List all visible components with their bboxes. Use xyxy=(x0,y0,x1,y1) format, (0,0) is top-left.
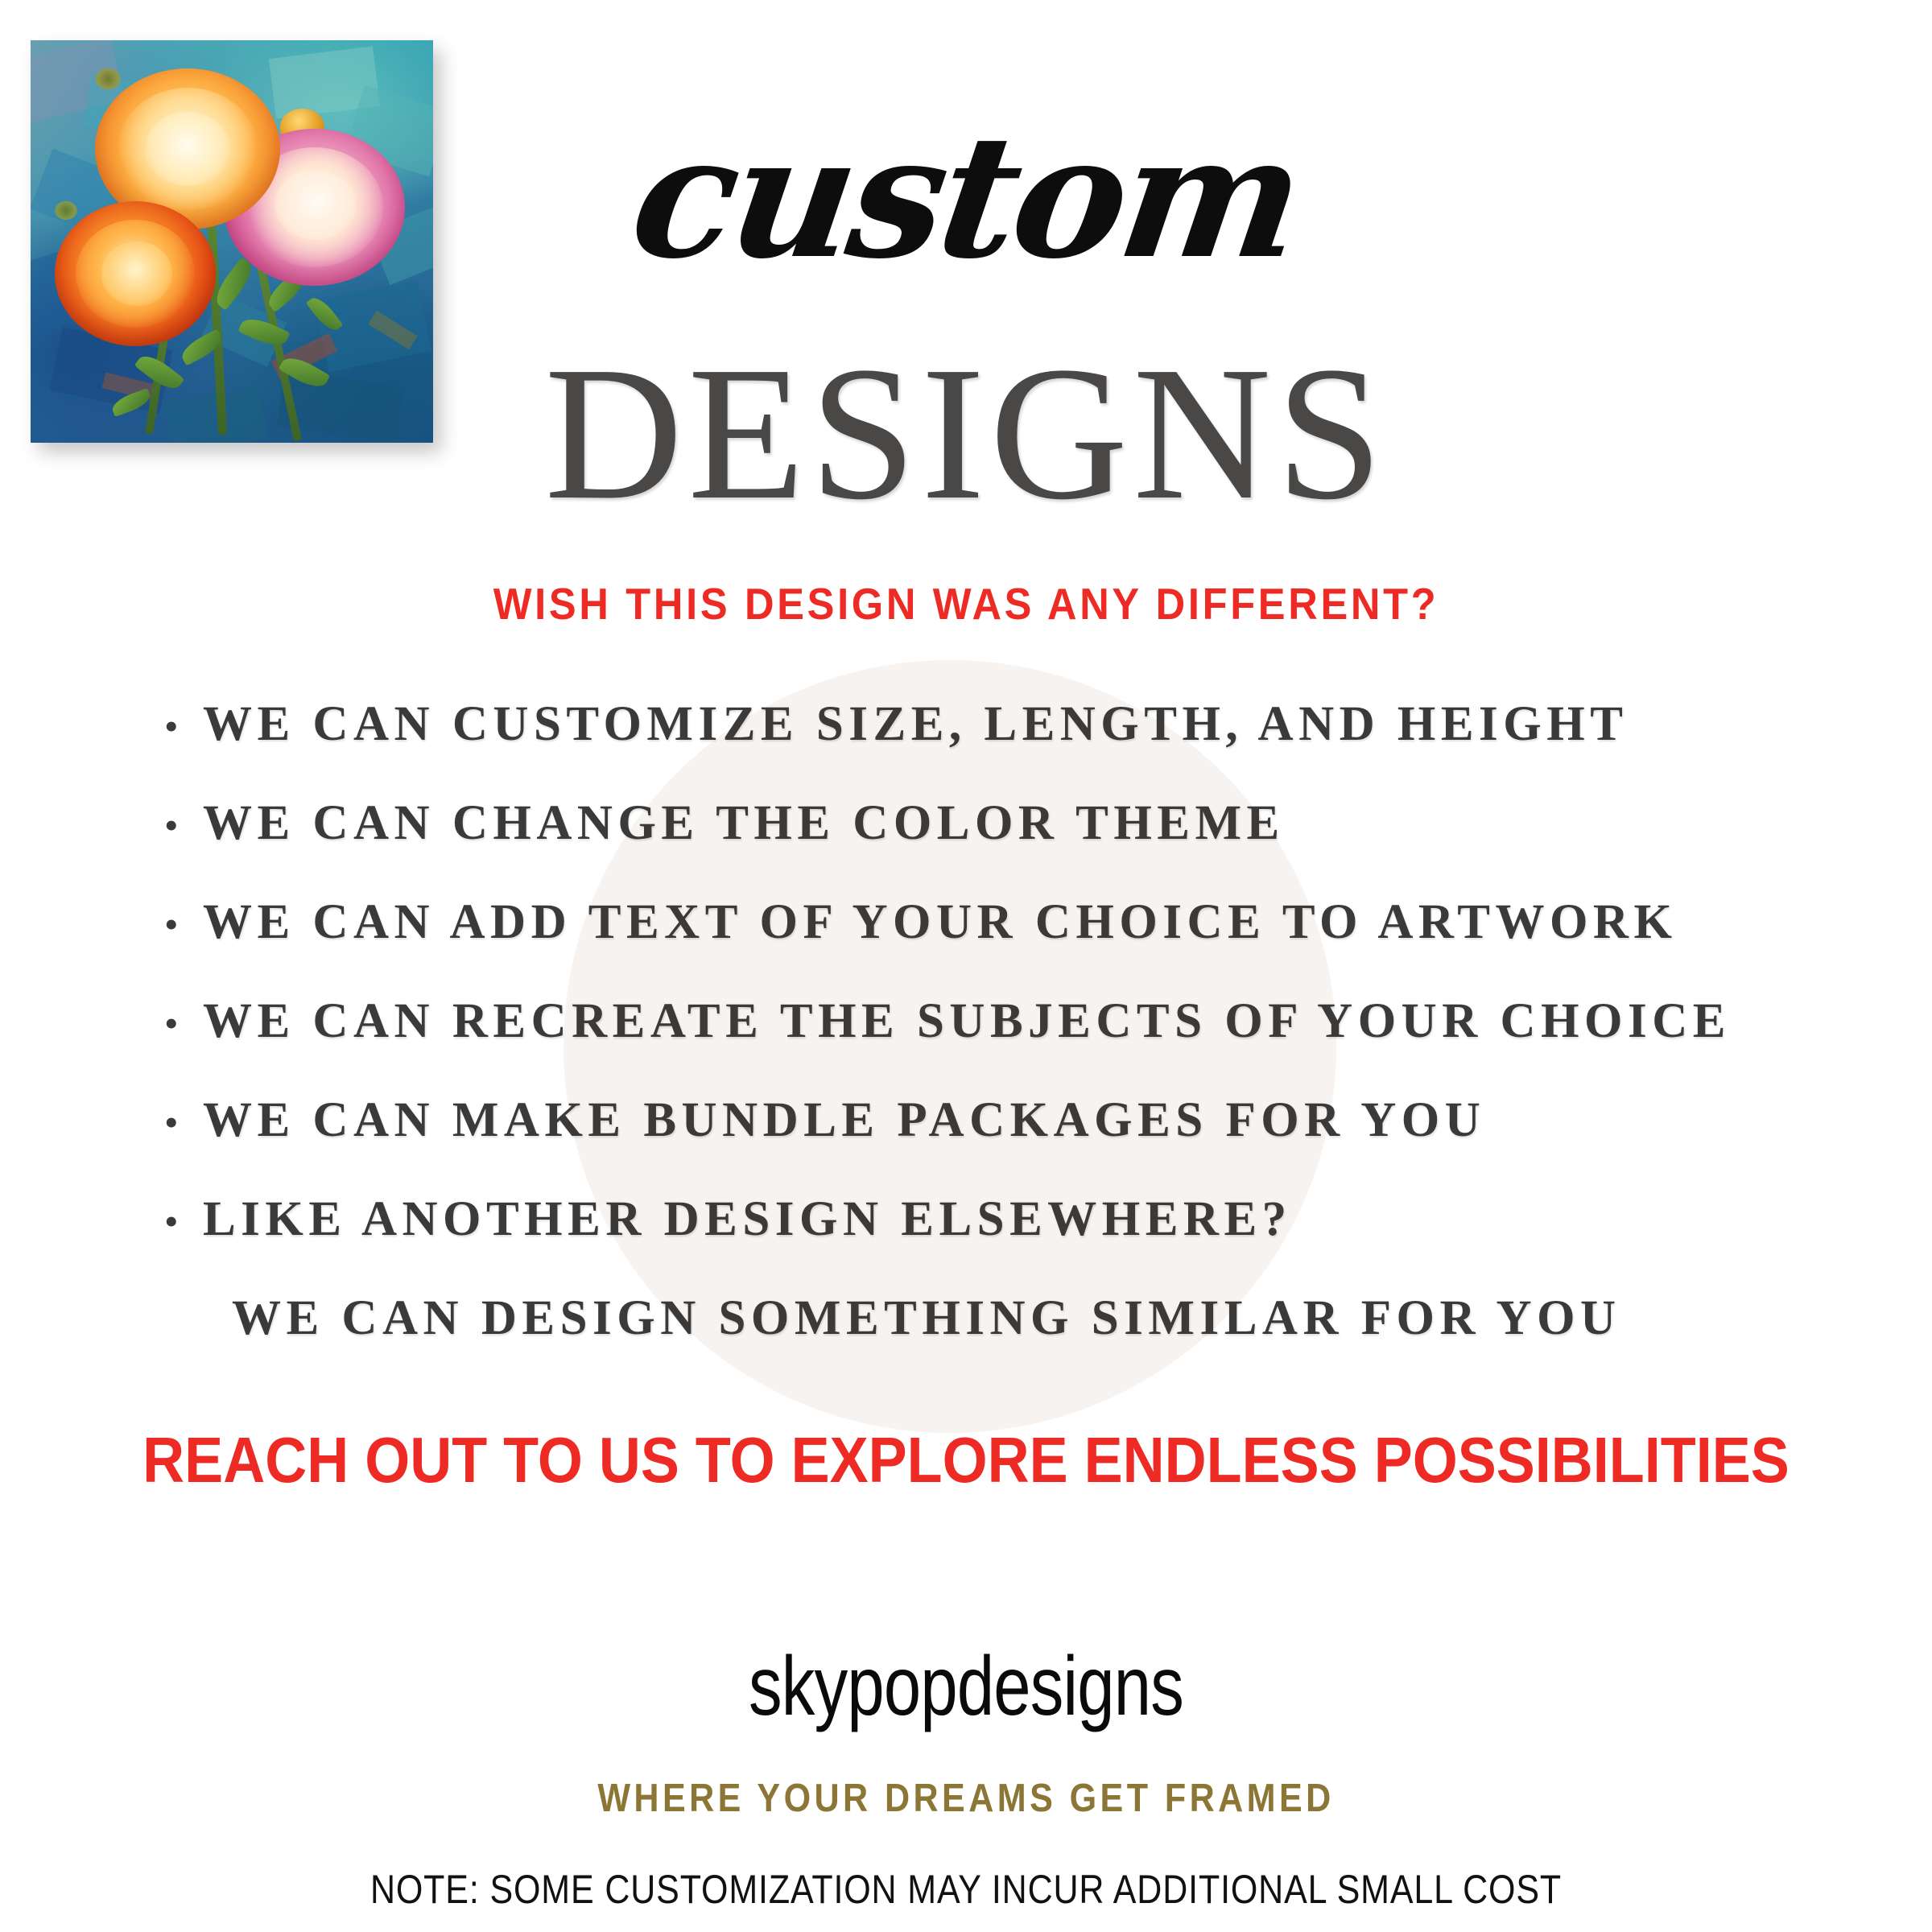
subtitle-question: WISH THIS DESIGN WAS ANY DIFFERENT? xyxy=(77,578,1855,630)
brand-logo-text: skypopdesigns xyxy=(193,1639,1739,1735)
list-item-label: WE CAN DESIGN SOMETHING SIMILAR FOR YOU xyxy=(203,1290,1621,1347)
bullet-dot-icon: • xyxy=(153,1003,203,1043)
list-item-continuation: WE CAN DESIGN SOMETHING SIMILAR FOR YOU xyxy=(153,1290,1827,1389)
bullet-dot-icon: • xyxy=(153,1201,203,1241)
brand-tagline: WHERE YOUR DREAMS GET FRAMED xyxy=(116,1776,1816,1821)
list-item: • WE CAN MAKE BUNDLE PACKAGES FOR YOU xyxy=(153,1092,1827,1191)
bullet-dot-icon: • xyxy=(153,1102,203,1142)
script-headline-custom: custom xyxy=(0,113,1932,282)
list-item-label: WE CAN RECREATE THE SUBJECTS OF YOUR CHO… xyxy=(203,993,1731,1050)
bullet-dot-icon: • xyxy=(153,706,203,746)
list-item-label: LIKE ANOTHER DESIGN ELSEWHERE? xyxy=(203,1191,1292,1248)
list-item-label: WE CAN MAKE BUNDLE PACKAGES FOR YOU xyxy=(203,1092,1485,1149)
list-item: • WE CAN CHANGE THE COLOR THEME xyxy=(153,795,1827,894)
customization-options-list: • WE CAN CUSTOMIZE SIZE, LENGTH, AND HEI… xyxy=(153,696,1827,1389)
list-item: • WE CAN CUSTOMIZE SIZE, LENGTH, AND HEI… xyxy=(153,696,1827,795)
list-item: • LIKE ANOTHER DESIGN ELSEWHERE? xyxy=(153,1191,1827,1290)
page-title-designs: DESIGNS xyxy=(0,338,1932,530)
bullet-dot-icon: • xyxy=(153,805,203,845)
list-item: • WE CAN RECREATE THE SUBJECTS OF YOUR C… xyxy=(153,993,1827,1092)
custom-designs-poster: custom DESIGNS WISH THIS DESIGN WAS ANY … xyxy=(0,0,1932,1932)
list-item: • WE CAN ADD TEXT OF YOUR CHOICE TO ARTW… xyxy=(153,894,1827,993)
bullet-dot-icon: • xyxy=(153,904,203,944)
list-item-label: WE CAN CUSTOMIZE SIZE, LENGTH, AND HEIGH… xyxy=(203,696,1628,753)
footnote-text: NOTE: SOME CUSTOMIZATION MAY INCUR ADDIT… xyxy=(135,1866,1797,1913)
list-item-label: WE CAN ADD TEXT OF YOUR CHOICE TO ARTWOR… xyxy=(203,894,1677,951)
call-to-action-text: REACH OUT TO US TO EXPLORE ENDLESS POSSI… xyxy=(97,1423,1835,1497)
list-item-label: WE CAN CHANGE THE COLOR THEME xyxy=(203,795,1285,852)
